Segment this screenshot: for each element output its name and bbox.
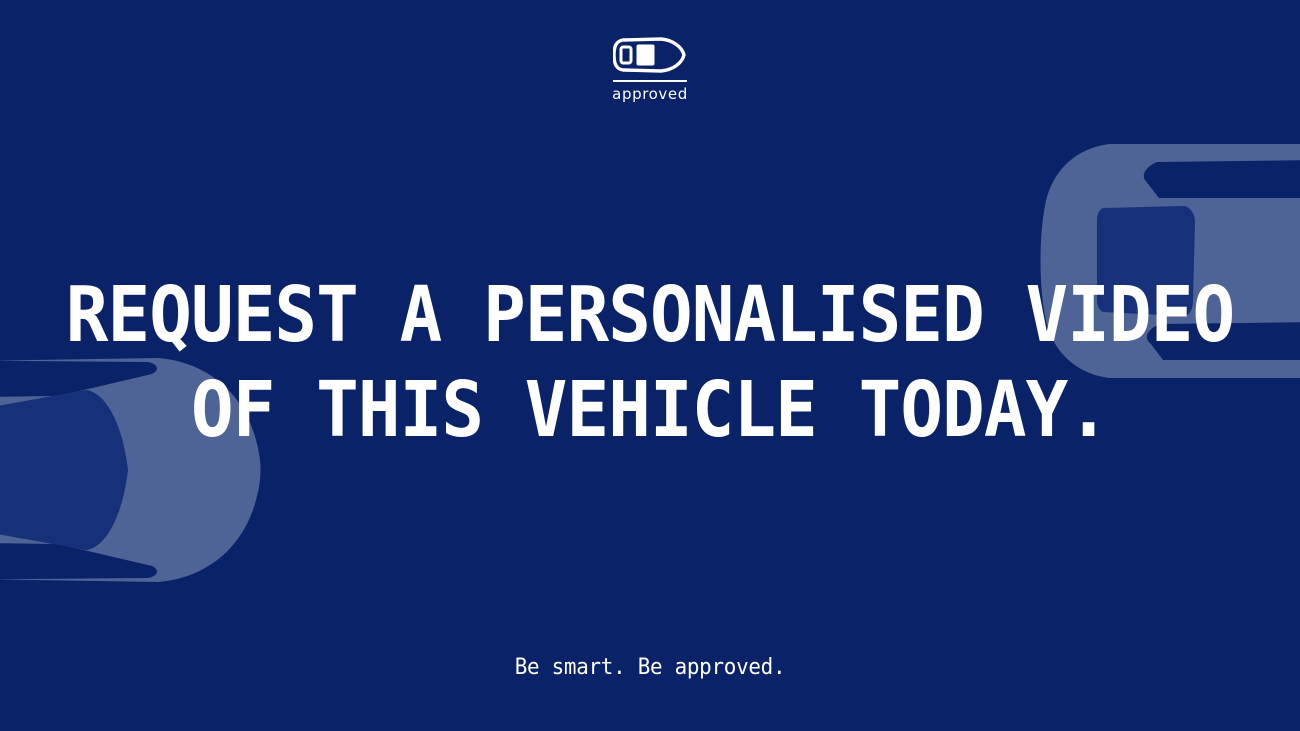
headline-line-2: OF THIS VEHICLE TODAY.	[52, 363, 1248, 458]
headline-line-1: REQUEST A PERSONALISED VIDEO	[52, 268, 1248, 363]
brand-logo: approved	[0, 36, 1300, 103]
promo-banner: approved REQUEST A PERSONALISED VIDEO OF…	[0, 0, 1300, 731]
logo-divider	[613, 80, 687, 82]
tagline: Be smart. Be approved.	[33, 655, 1268, 680]
logo-wordmark: approved	[0, 85, 1300, 103]
page-title: REQUEST A PERSONALISED VIDEO OF THIS VEH…	[0, 268, 1300, 458]
car-top-view-icon	[613, 36, 687, 74]
